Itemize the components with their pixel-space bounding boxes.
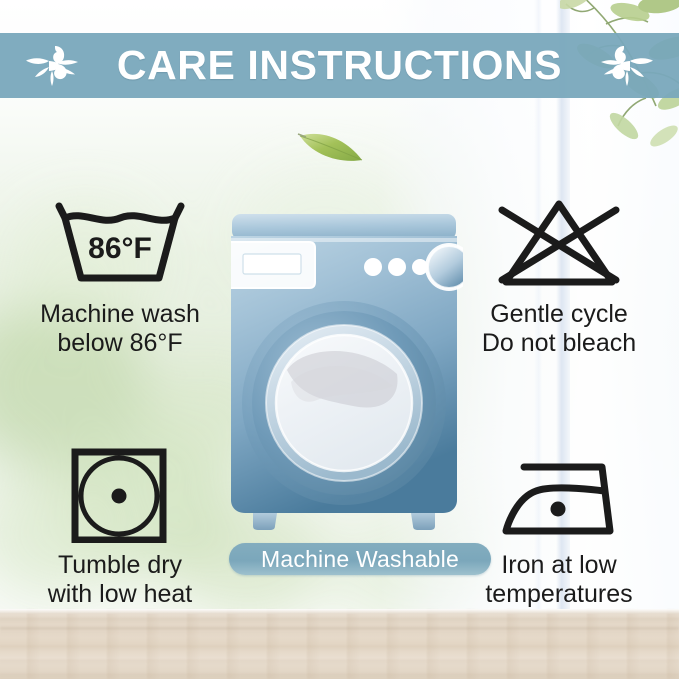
tumble-dry-square-circle-one-dot-icon: [45, 447, 195, 543]
care-symbol-caption: Tumble dry with low heat: [48, 551, 193, 609]
table-surface: [0, 609, 679, 679]
badge-label: Machine Washable: [261, 548, 459, 571]
table-edge-highlight: [0, 609, 679, 614]
header-banner: CARE INSTRUCTIONS: [0, 33, 679, 98]
iron-one-dot-icon: [484, 447, 634, 543]
care-symbol-do-not-bleach: Gentle cycle Do not bleach: [444, 196, 674, 358]
wash-temperature-value: 86°F: [88, 232, 152, 265]
fleur-de-lis-icon: [591, 43, 655, 89]
fleur-de-lis-icon: [24, 43, 88, 89]
triangle-crossed-bleach-icon: [484, 196, 634, 292]
care-symbol-caption: Iron at low temperatures: [485, 551, 632, 609]
table-shadow-line: [0, 627, 679, 630]
care-symbol-iron-low: Iron at low temperatures: [444, 447, 674, 609]
care-instructions-infographic: CARE INSTRUCTIONS 86°F Machine wash belo…: [0, 0, 679, 679]
care-symbol-caption: Gentle cycle Do not bleach: [482, 300, 636, 358]
care-symbol-tumble-dry: Tumble dry with low heat: [5, 447, 235, 609]
wash-tub-icon: 86°F: [45, 196, 195, 292]
washing-machine-illustration: [225, 210, 463, 540]
page-title: CARE INSTRUCTIONS: [117, 45, 562, 86]
care-symbol-machine-wash: 86°F Machine wash below 86°F: [5, 196, 235, 358]
care-symbol-caption: Machine wash below 86°F: [40, 300, 200, 358]
machine-washable-badge: Machine Washable: [229, 543, 491, 575]
floating-leaf-icon: [296, 122, 366, 166]
